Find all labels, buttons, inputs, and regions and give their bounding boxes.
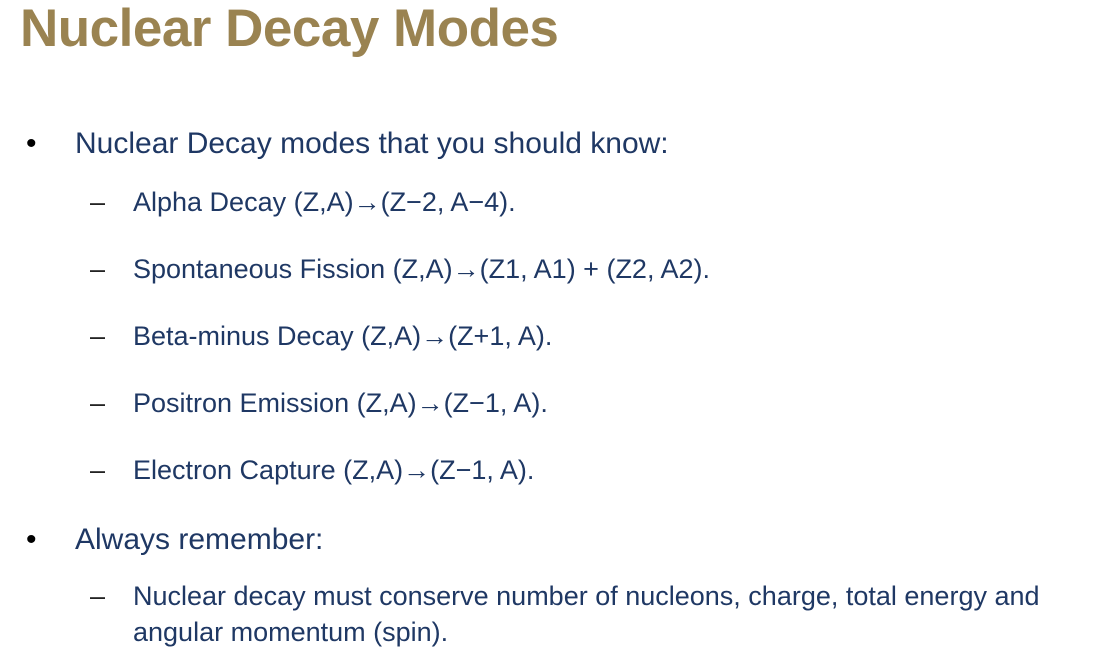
bullet-item-level2: – Electron Capture (Z,A)→(Z−1, A). (0, 452, 1118, 488)
bullet-level2-label: Spontaneous Fission (Z,A)→(Z1, A1) + (Z2… (133, 251, 1093, 287)
dash-icon: – (90, 385, 114, 421)
spacer (0, 421, 1118, 452)
bullet-level2-label: Electron Capture (Z,A)→(Z−1, A). (133, 452, 1093, 488)
dash-icon: – (90, 184, 114, 220)
dash-icon: – (90, 251, 114, 287)
bullet-item-level2: – Positron Emission (Z,A)→(Z−1, A). (0, 385, 1118, 421)
spacer (0, 354, 1118, 385)
bullet-level2-label: Positron Emission (Z,A)→(Z−1, A). (133, 385, 1093, 421)
dash-icon: – (90, 578, 114, 614)
slide-body: • Nuclear Decay modes that you should kn… (0, 124, 1118, 650)
spacer (0, 488, 1118, 520)
bullet-level1-label: Always remember: (75, 520, 1118, 560)
bullet-level1-label: Nuclear Decay modes that you should know… (75, 124, 1118, 164)
spacer (0, 560, 1118, 578)
bullet-dot-icon: • (26, 520, 46, 560)
bullet-item-level2: – Alpha Decay (Z,A)→(Z−2, A−4). (0, 184, 1118, 220)
bullet-dot-icon: • (26, 124, 46, 164)
bullet-item-level2: – Beta-minus Decay (Z,A)→(Z+1, A). (0, 318, 1118, 354)
spacer (0, 220, 1118, 251)
dash-icon: – (90, 452, 114, 488)
spacer (0, 164, 1118, 184)
dash-icon: – (90, 318, 114, 354)
bullet-item-level1: • Nuclear Decay modes that you should kn… (0, 124, 1118, 164)
bullet-item-level2: – Nuclear decay must conserve number of … (0, 578, 1118, 650)
bullet-level2-label: Alpha Decay (Z,A)→(Z−2, A−4). (133, 184, 1093, 220)
spacer (0, 287, 1118, 318)
bullet-level2-label: Beta-minus Decay (Z,A)→(Z+1, A). (133, 318, 1093, 354)
bullet-level2-label: Nuclear decay must conserve number of nu… (133, 578, 1093, 650)
bullet-item-level2: – Spontaneous Fission (Z,A)→(Z1, A1) + (… (0, 251, 1118, 287)
slide: Nuclear Decay Modes • Nuclear Decay mode… (0, 0, 1118, 663)
bullet-item-level1: • Always remember: (0, 520, 1118, 560)
page-title: Nuclear Decay Modes (20, 0, 558, 60)
